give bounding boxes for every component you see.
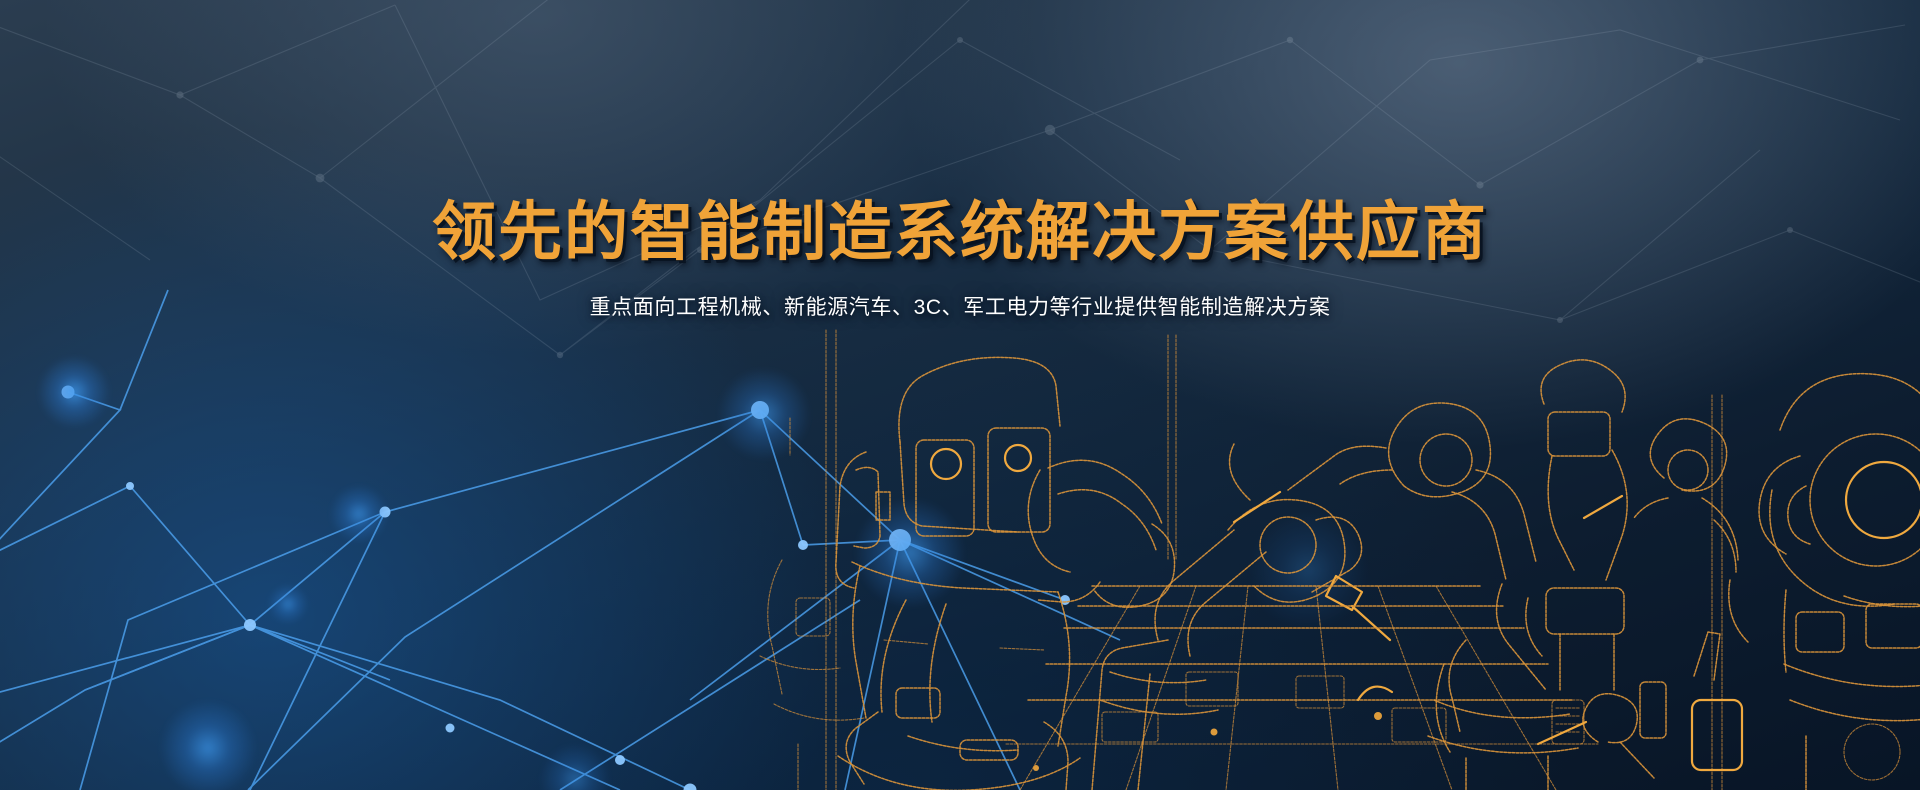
glow-blob-center-low xyxy=(855,498,965,608)
left-machine-frame xyxy=(760,560,864,790)
network-mesh-bottom xyxy=(0,0,1920,790)
humanoid-robot-center-left xyxy=(836,357,1175,790)
glow-blob-bottom-mid xyxy=(540,744,610,790)
glow-blob-node-bright xyxy=(330,485,388,543)
robot-line-art-illustration xyxy=(0,0,1920,790)
glow-blob-center xyxy=(718,368,810,460)
robot-arm-center xyxy=(1092,444,1390,790)
hero-text-block: 领先的智能制造系统解决方案供应商 重点面向工程机械、新能源汽车、3C、军工电力等… xyxy=(0,198,1920,321)
robot-arm-right-center xyxy=(1234,403,1578,790)
support-posts xyxy=(790,330,1722,790)
conveyor-track-floor xyxy=(1006,586,1598,790)
robot-cluster-right xyxy=(1538,360,1920,790)
network-mesh-top xyxy=(0,0,1920,790)
hero-banner: 领先的智能制造系统解决方案供应商 重点面向工程机械、新能源汽车、3C、军工电力等… xyxy=(0,0,1920,790)
page-subtitle: 重点面向工程机械、新能源汽车、3C、军工电力等行业提供智能制造解决方案 xyxy=(0,291,1920,321)
glow-blob-upper-left xyxy=(38,356,110,428)
glow-blob-right-dim xyxy=(1248,510,1368,630)
glow-blob-mid-left xyxy=(268,584,308,624)
page-title: 领先的智能制造系统解决方案供应商 xyxy=(0,198,1920,267)
glow-blob-lower-left xyxy=(160,700,256,790)
